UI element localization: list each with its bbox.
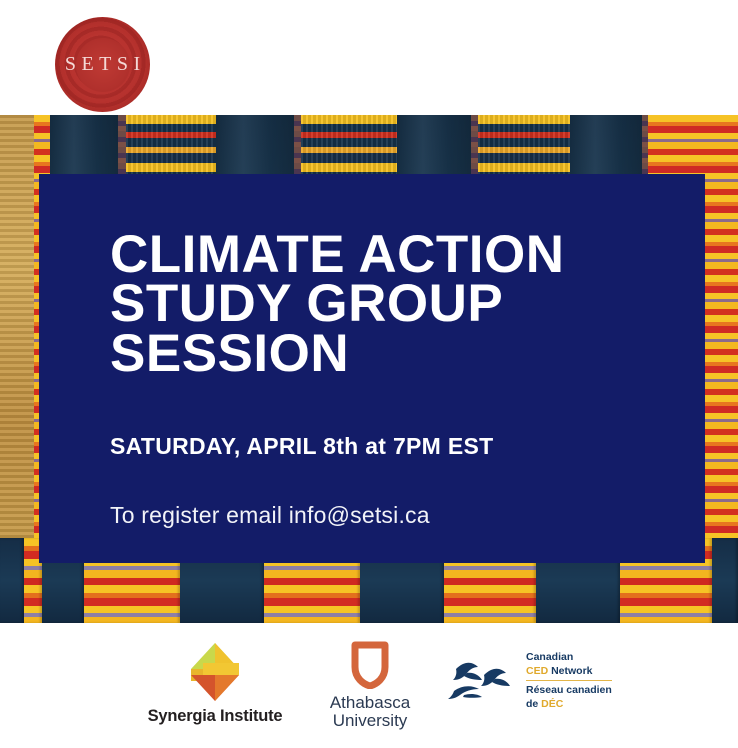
partner-logos-footer: Synergia Institute Athabasca University bbox=[0, 623, 738, 748]
ccednet-fr-prefix: de bbox=[526, 698, 541, 710]
ccednet-en-acronym: CED bbox=[526, 665, 548, 677]
partner-logo-ccednet: Canadian CED Network Réseau canadien de … bbox=[448, 651, 628, 712]
setsi-wordmark: SETSI bbox=[59, 53, 145, 76]
athabasca-label: Athabasca University bbox=[300, 694, 440, 730]
header-logo-zone: SETSI bbox=[0, 0, 738, 115]
athabasca-shield-icon bbox=[350, 641, 390, 689]
setsi-logo: SETSI bbox=[55, 17, 150, 112]
ccednet-fr-line1: Réseau canadien bbox=[526, 684, 612, 698]
page-title: CLIMATE ACTION STUDY GROUP SESSION bbox=[110, 230, 681, 378]
ccednet-geese-icon bbox=[448, 655, 520, 707]
synergia-s-logo bbox=[180, 641, 250, 703]
ccednet-divider bbox=[526, 680, 612, 681]
ccednet-fr-line2: de DÉC bbox=[526, 698, 612, 712]
ccednet-en-line1: Canadian bbox=[526, 651, 612, 665]
partner-logo-synergia: Synergia Institute bbox=[145, 641, 285, 726]
ccednet-lockup: Canadian CED Network Réseau canadien de … bbox=[448, 651, 628, 712]
event-card: CLIMATE ACTION STUDY GROUP SESSION SATUR… bbox=[39, 174, 705, 563]
event-datetime: SATURDAY, APRIL 8th at 7PM EST bbox=[110, 433, 681, 460]
ccednet-fr-acronym: DÉC bbox=[541, 698, 563, 710]
partner-logo-athabasca: Athabasca University bbox=[300, 641, 440, 730]
ccednet-en-line2: CED Network bbox=[526, 665, 612, 679]
ccednet-en-line2-rest: Network bbox=[548, 665, 592, 677]
synergia-label: Synergia Institute bbox=[145, 707, 285, 726]
kente-block bbox=[0, 538, 24, 623]
ccednet-text: Canadian CED Network Réseau canadien de … bbox=[526, 651, 612, 712]
event-card-content: CLIMATE ACTION STUDY GROUP SESSION SATUR… bbox=[110, 230, 681, 529]
event-registration-text: To register email info@setsi.ca bbox=[110, 502, 681, 529]
kente-block bbox=[712, 538, 738, 623]
